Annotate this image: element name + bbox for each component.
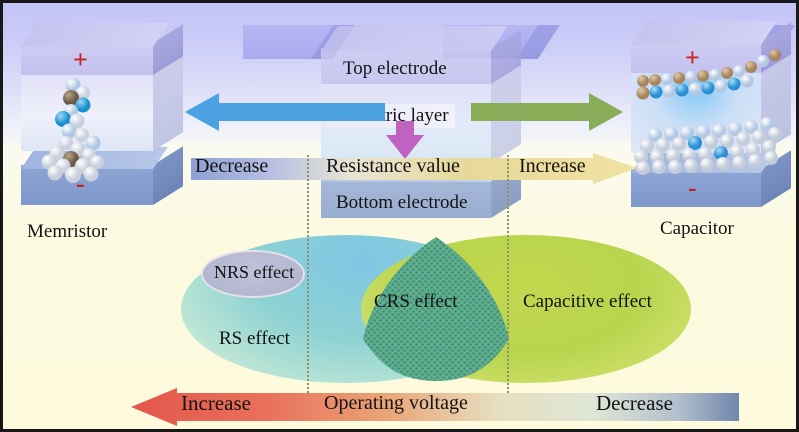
arrow-to-capacitor [471,91,623,133]
venn-rs-effect-label: RS effect [219,328,290,350]
memristor-caption: Memristor [27,221,107,243]
venn-crs-effect-label: CRS effect [374,291,458,313]
resistance-value-label: Resistance value [326,155,460,178]
mim-top-face [321,26,508,51]
device-memristor: + - [21,25,153,205]
label-top-electrode: Top electrode [337,57,453,81]
divider-left [307,155,309,397]
resistance-decrease-label: Decrease [195,155,268,178]
figure-canvas: + - [0,0,799,432]
label-bottom-electrode: Bottom electrode [330,191,473,215]
background-band-2 [243,25,333,59]
device-capacitor: + - [631,27,761,207]
memristor-filament-icon [21,25,153,205]
capacitor-caption: Capacitor [660,218,734,240]
arrow-to-memristor [185,91,385,133]
capacitor-charge-layers-icon [623,27,793,207]
venn-nrs-effect-label: NRS effect [214,262,294,283]
resistance-increase-label: Increase [519,155,586,178]
venn-capacitive-effect-label: Capacitive effect [523,291,652,313]
operating-voltage-label: Operating voltage [324,392,468,415]
voltage-increase-label: Increase [181,391,251,416]
voltage-decrease-label: Decrease [596,391,673,416]
divider-right [507,155,509,397]
